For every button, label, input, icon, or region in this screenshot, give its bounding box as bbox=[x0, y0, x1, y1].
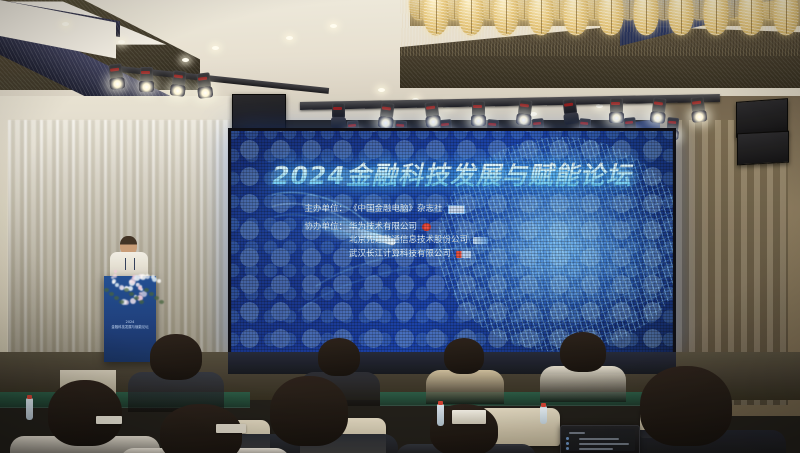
co-organizer-value-2: 北京先进数通信息技术股份公司 bbox=[349, 234, 468, 248]
foliage bbox=[124, 288, 129, 292]
ceiling-downlight bbox=[182, 58, 189, 62]
bottle-cap bbox=[438, 401, 443, 405]
spotlight-label bbox=[141, 71, 150, 74]
flower bbox=[138, 286, 142, 290]
attendee-head bbox=[318, 338, 360, 376]
attendee-torso bbox=[426, 370, 504, 404]
spotlight-lamp bbox=[331, 117, 346, 128]
lectern-banner-line-2: 金融科技发展与赋能论坛 bbox=[108, 325, 152, 330]
changjiang-logo-icon bbox=[456, 251, 471, 258]
flower bbox=[113, 274, 117, 278]
foliage bbox=[129, 292, 134, 296]
co-organizer-label: 协办单位： bbox=[283, 221, 347, 235]
bottle-cap bbox=[541, 403, 546, 407]
document-paper bbox=[96, 416, 122, 424]
spotlight-body bbox=[332, 103, 345, 118]
foliage bbox=[159, 300, 164, 304]
foliage bbox=[104, 288, 109, 292]
huawei-logo-icon bbox=[422, 223, 431, 231]
flower bbox=[140, 274, 146, 280]
laptop-ui-row bbox=[569, 432, 585, 434]
spotlight-lamp bbox=[109, 77, 125, 90]
foliage bbox=[119, 300, 124, 304]
line-array-speaker-right-bottom bbox=[737, 131, 789, 166]
foliage bbox=[109, 292, 114, 296]
co-organizer-row-1: 协办单位： 华为技术有限公司 bbox=[283, 221, 623, 235]
spotlight-body bbox=[472, 101, 485, 116]
notebook bbox=[216, 424, 246, 433]
magazine-logo-icon bbox=[448, 205, 465, 214]
stage-spotlight bbox=[168, 70, 188, 98]
ceiling-downlight bbox=[330, 24, 337, 28]
co-organizer-value-1: 华为技术有限公司 bbox=[349, 221, 417, 235]
spotlight-lamp bbox=[197, 86, 213, 99]
attendee-head bbox=[270, 376, 348, 446]
spotlight-label bbox=[174, 74, 183, 78]
foliage bbox=[144, 288, 149, 292]
flower bbox=[157, 279, 161, 283]
flower bbox=[139, 292, 142, 295]
stage-spotlight bbox=[688, 96, 708, 124]
organizer-block: 主办单位： 《中国金融电脑》杂志社 协办单位： 华为技术有限公司 北京先进数通信… bbox=[283, 203, 623, 261]
attendee-head bbox=[150, 334, 202, 380]
attendee-head bbox=[560, 332, 606, 372]
spotlight-label bbox=[473, 105, 482, 108]
foliage bbox=[134, 296, 139, 300]
laptop-ui-dot bbox=[566, 442, 569, 445]
spotlight-label bbox=[668, 120, 676, 123]
lectern-banner: 2024 金融科技发展与赋能论坛 bbox=[108, 320, 152, 330]
laptop-ui-dot bbox=[566, 447, 569, 450]
laptop-ui-row bbox=[579, 443, 629, 445]
stage-spotlight bbox=[194, 72, 214, 100]
name-card-holder bbox=[452, 410, 486, 424]
water-bottle[interactable] bbox=[540, 406, 547, 424]
foliage bbox=[114, 296, 119, 300]
ceiling-downlight bbox=[62, 22, 69, 26]
flower bbox=[152, 277, 157, 282]
forum-title: 2024金融科技发展与赋能论坛 bbox=[231, 156, 673, 192]
spotlight-label bbox=[488, 122, 496, 125]
water-bottle[interactable] bbox=[437, 404, 444, 426]
spotlight-body bbox=[140, 67, 153, 82]
flower bbox=[134, 275, 140, 281]
laptop-ui-row bbox=[579, 438, 619, 440]
conference-hall-photo: 2024金融科技发展与赋能论坛 主办单位： 《中国金融电脑》杂志社 协办单位： … bbox=[0, 0, 800, 453]
organizer-value: 《中国金融电脑》杂志社 bbox=[349, 203, 443, 217]
spotlight-label bbox=[611, 102, 620, 105]
led-screen-content: 2024金融科技发展与赋能论坛 主办单位： 《中国金融电脑》杂志社 协办单位： … bbox=[231, 131, 673, 353]
spotlight-label bbox=[333, 107, 342, 110]
spotlight-label bbox=[382, 106, 391, 110]
ceiling-downlight bbox=[286, 36, 293, 40]
organizer-label: 主办单位： bbox=[283, 203, 347, 217]
laptop-ui-dot bbox=[566, 437, 569, 440]
ceiling-downlight bbox=[378, 88, 385, 92]
flower bbox=[128, 286, 133, 291]
spotlight-lamp bbox=[139, 81, 154, 92]
organizer-row: 主办单位： 《中国金融电脑》杂志社 bbox=[283, 203, 623, 217]
spotlight-lamp bbox=[471, 115, 486, 126]
co-organizer-row-2: 北京先进数通信息技术股份公司 bbox=[283, 234, 623, 248]
spotlight-lamp bbox=[170, 84, 186, 97]
ceiling-downlight bbox=[596, 104, 603, 108]
co-organizer-row-3: 武汉长江计算科技有限公司 bbox=[283, 248, 623, 262]
floral-arrangement bbox=[98, 266, 164, 302]
spotlight-lamp bbox=[378, 116, 394, 129]
table bbox=[380, 392, 680, 406]
stage-spotlight bbox=[138, 67, 155, 93]
attendee-head bbox=[48, 380, 122, 446]
spotlight-label bbox=[580, 121, 588, 124]
led-screen: 2024金融科技发展与赋能论坛 主办单位： 《中国金融电脑》杂志社 协办单位： … bbox=[228, 128, 676, 356]
flower bbox=[145, 274, 150, 279]
spotlight-lamp bbox=[650, 111, 666, 124]
ceiling-downlight bbox=[118, 40, 125, 44]
stage-spotlight bbox=[470, 101, 487, 127]
foliage bbox=[139, 300, 144, 304]
spotlight-label bbox=[396, 124, 404, 127]
co-organizer-value-3: 武汉长江计算科技有限公司 bbox=[349, 248, 451, 262]
spotlight-lamp bbox=[691, 110, 707, 123]
attendee-head bbox=[640, 366, 732, 446]
spotlight-label bbox=[654, 101, 663, 105]
spotlight-body bbox=[610, 98, 623, 113]
foliage bbox=[154, 296, 159, 300]
ceiling-downlight bbox=[212, 46, 219, 50]
attendee-head bbox=[444, 338, 484, 374]
laptop-screen bbox=[565, 429, 635, 451]
foliage bbox=[149, 292, 154, 296]
bottle-cap bbox=[27, 395, 32, 399]
flower bbox=[114, 270, 117, 273]
stage-spotlight bbox=[106, 63, 126, 91]
water-bottle[interactable] bbox=[26, 398, 33, 420]
chandelier bbox=[400, 0, 800, 56]
laptop[interactable] bbox=[560, 425, 640, 453]
laptop-ui-row bbox=[579, 448, 613, 450]
dtec-logo-icon bbox=[473, 237, 488, 244]
